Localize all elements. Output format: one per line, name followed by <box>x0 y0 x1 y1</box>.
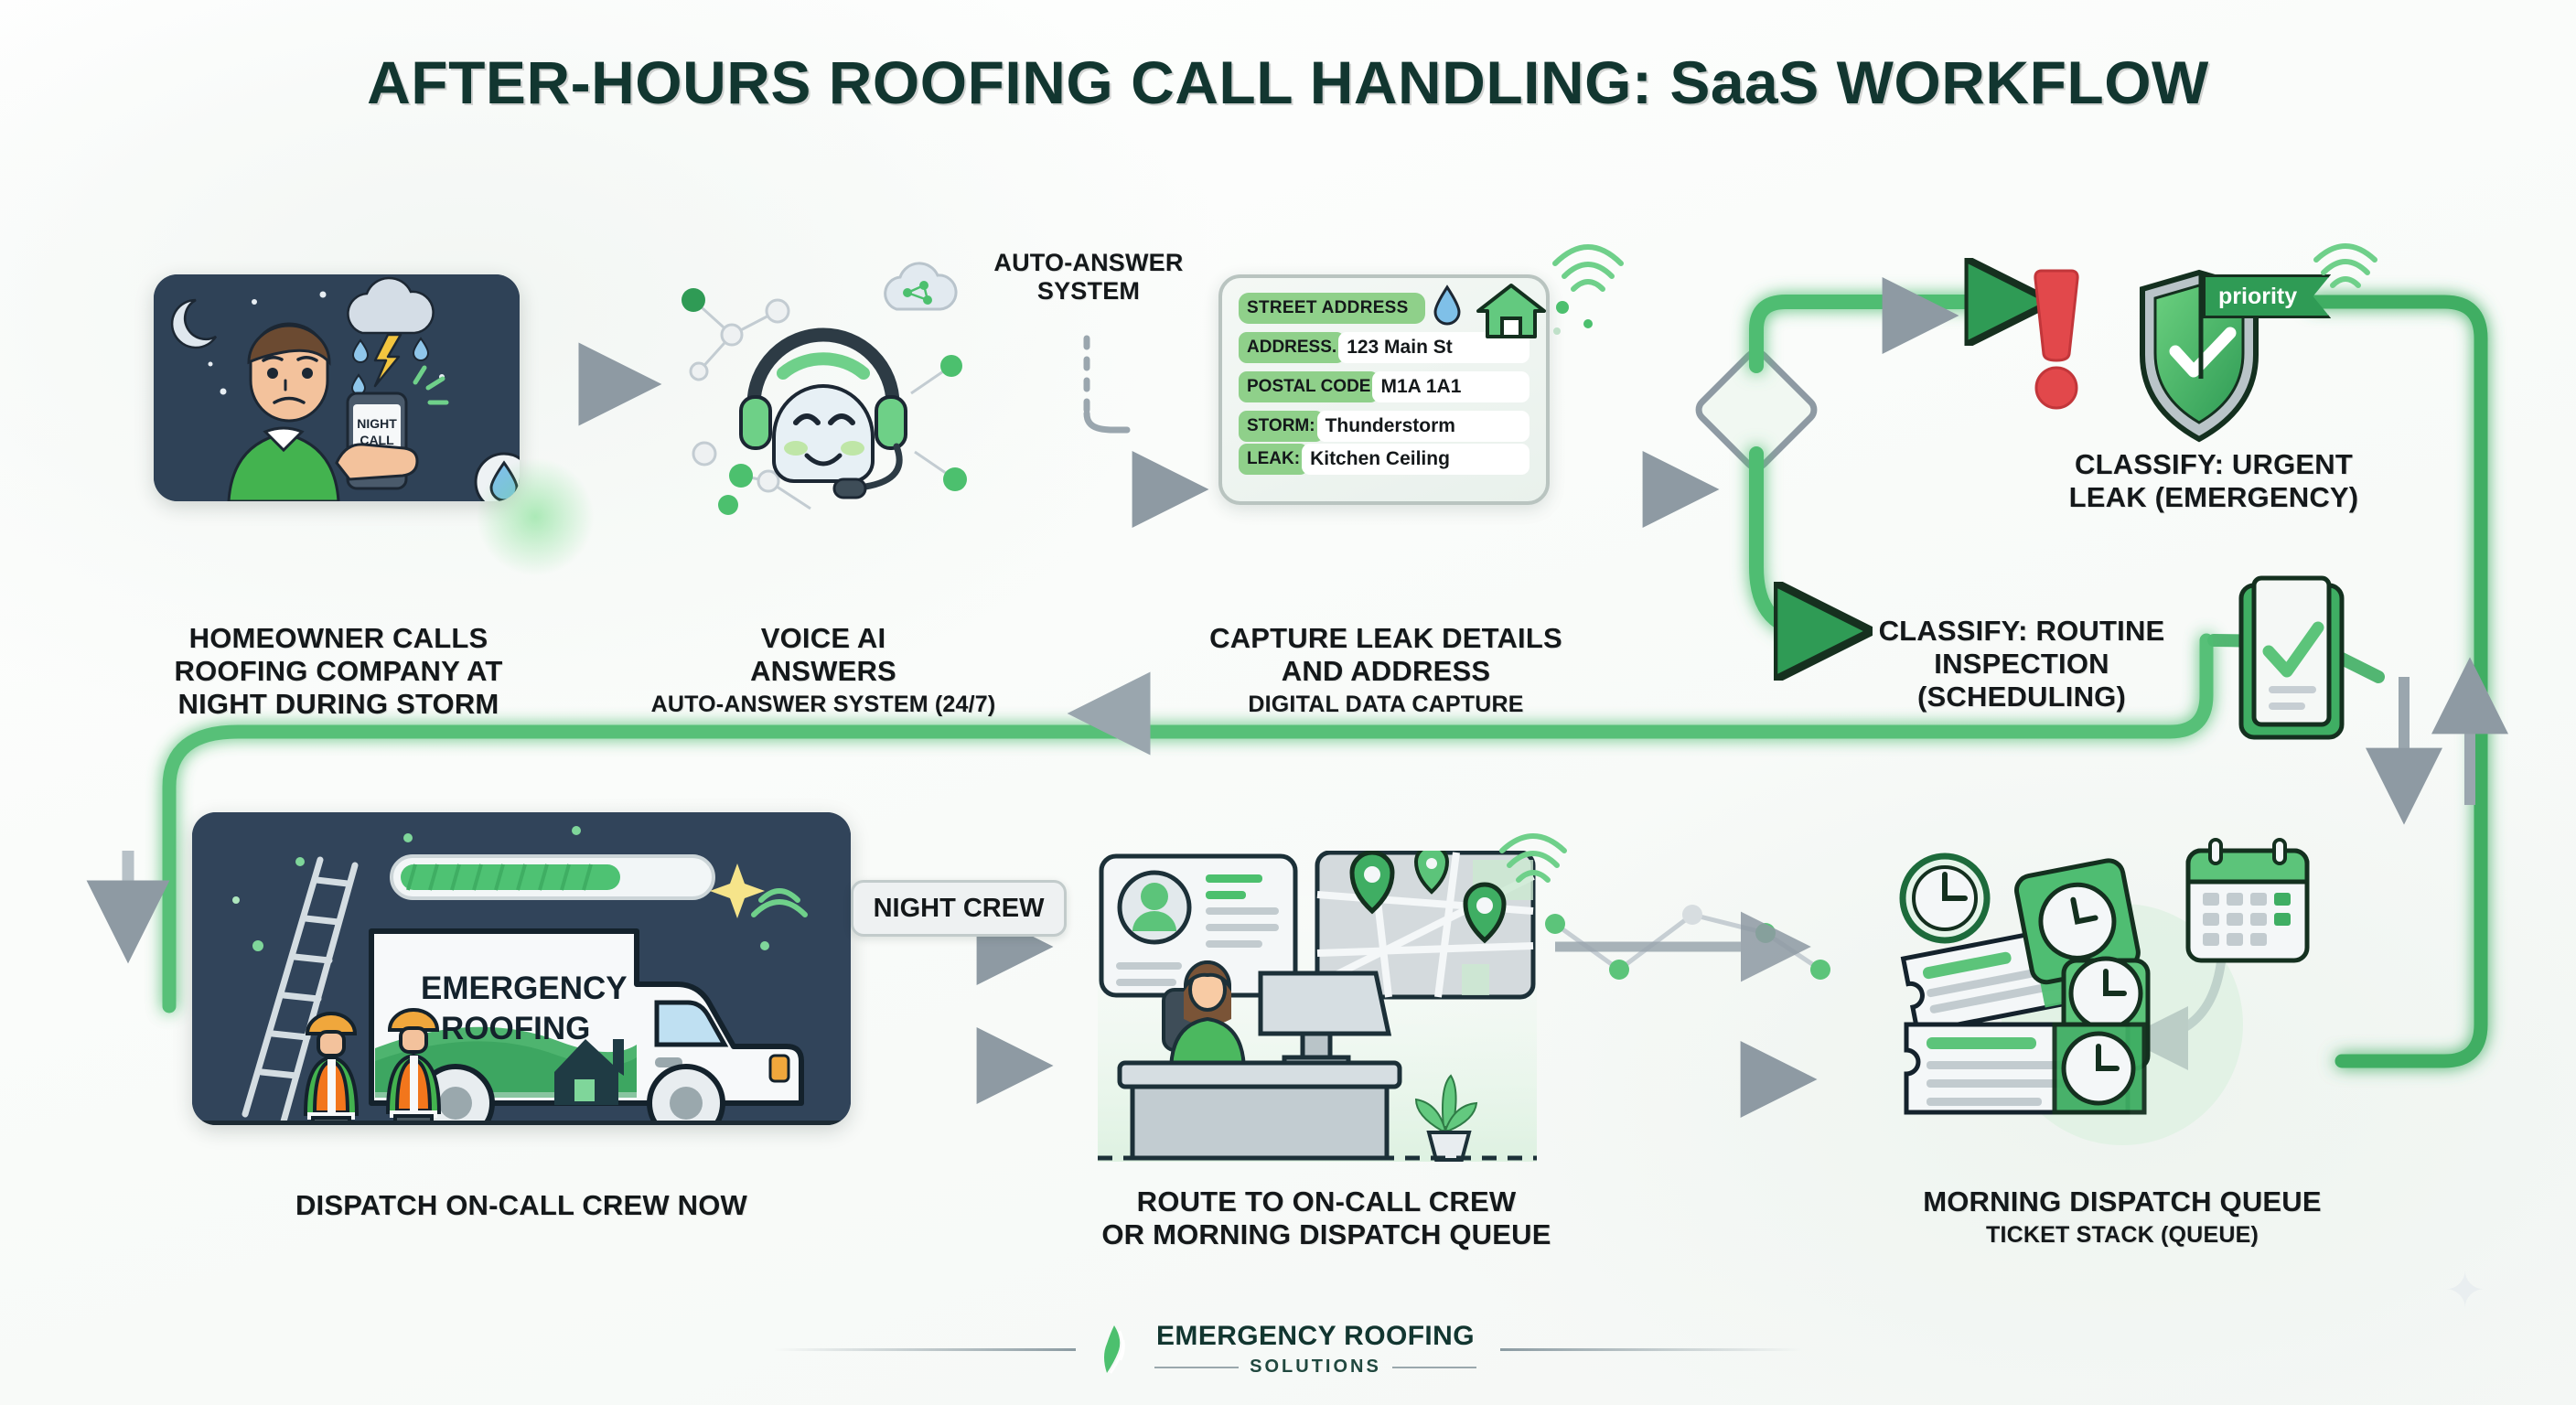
footer-tagline-row: SOLUTIONS <box>1154 1357 1476 1378</box>
caption-line: DISPATCH ON-CALL CREW NOW <box>183 1189 860 1222</box>
caption-line: MORNING DISPATCH QUEUE <box>1820 1185 2424 1218</box>
caption-line: HOMEOWNER CALLS <box>91 622 585 655</box>
caption-line: INSPECTION <box>1820 648 2223 681</box>
title-part2: WORKFLOW <box>1819 48 2209 116</box>
footer-brand-block: EMERGENCY ROOFING SOLUTIONS <box>1154 1321 1476 1378</box>
water-drop-icon <box>1435 287 1459 324</box>
signal-icon <box>1497 829 1579 902</box>
clipboard-check-icon <box>2232 573 2351 746</box>
exclamation-mark-icon <box>2020 263 2093 419</box>
priority-shield-badge: priority <box>2124 267 2334 450</box>
caption-line: NIGHT DURING STORM <box>91 688 585 721</box>
footer: EMERGENCY ROOFING SOLUTIONS <box>0 1321 2576 1378</box>
field-label: ADDRESS. <box>1239 332 1345 363</box>
annotation-auto-answer-system: AUTO-ANSWER SYSTEM <box>970 249 1207 306</box>
phone-label-line1: NIGHT <box>357 416 397 431</box>
caption-capture-details: CAPTURE LEAK DETAILS AND ADDRESS DIGITAL… <box>1162 622 1610 718</box>
caption-classify-routine: CLASSIFY: ROUTINE INSPECTION (SCHEDULING… <box>1820 615 2223 713</box>
caption-line: ANSWERS <box>640 655 1006 688</box>
night-crew-tag: NIGHT CREW <box>851 880 1067 937</box>
field-row-leak[interactable]: LEAK: Kitchen Ceiling <box>1239 444 1529 475</box>
footer-divider-right <box>1500 1348 1802 1351</box>
caption-line: CAPTURE LEAK DETAILS <box>1162 622 1610 655</box>
footer-brand-name: EMERGENCY ROOFING <box>1154 1321 1476 1352</box>
caption-dispatch-now: DISPATCH ON-CALL CREW NOW <box>183 1189 860 1222</box>
night-crew-label: NIGHT CREW <box>874 894 1045 924</box>
caption-homeowner-call: HOMEOWNER CALLS ROOFING COMPANY AT NIGHT… <box>91 622 585 721</box>
caption-line: ROOFING COMPANY AT <box>91 655 585 688</box>
caption-subtitle: AUTO-ANSWER SYSTEM (24/7) <box>640 692 1006 718</box>
caption-voice-ai: VOICE AI ANSWERS AUTO-ANSWER SYSTEM (24/… <box>640 622 1006 718</box>
field-row-postal-code[interactable]: POSTAL CODE M1A 1A1 <box>1239 371 1529 402</box>
sparkle-decoration-icon: ✦ <box>2444 1266 2485 1315</box>
caption-line: OR MORNING DISPATCH QUEUE <box>970 1218 1683 1251</box>
annotation-line: AUTO-ANSWER <box>970 249 1207 277</box>
caption-line: ROUTE TO ON-CALL CREW <box>970 1185 1683 1218</box>
field-value: M1A 1A1 <box>1372 371 1529 402</box>
scene-homeowner-night-call: NIGHT CALL <box>154 274 520 501</box>
van-label-line1: EMERGENCY <box>421 971 628 1006</box>
field-label-street-address: STREET ADDRESS <box>1239 293 1425 324</box>
field-label: LEAK: <box>1239 444 1308 475</box>
title-part1: AFTER-HOURS ROOFING CALL HANDLING: <box>367 48 1669 116</box>
caption-route-crew: ROUTE TO ON-CALL CREW OR MORNING DISPATC… <box>970 1185 1683 1251</box>
field-value: Kitchen Ceiling <box>1302 444 1529 475</box>
footer-divider-left <box>774 1348 1076 1351</box>
caption-classify-urgent: CLASSIFY: URGENT LEAK (EMERGENCY) <box>1976 448 2452 514</box>
infographic-canvas: AFTER-HOURS ROOFING CALL HANDLING: SaaS … <box>0 0 2576 1405</box>
caption-line: CLASSIFY: ROUTINE <box>1820 615 2223 648</box>
scene-ticket-stack <box>1894 832 2369 1153</box>
field-label: POSTAL CODE <box>1239 371 1379 402</box>
scene-dispatch-crew: EMERGENCY ROOFING <box>192 812 851 1125</box>
signal-icon <box>2313 240 2386 304</box>
drop-and-house-icons <box>1427 280 1546 342</box>
title-saas: SaaS <box>1669 48 1819 116</box>
tagline-rule-left <box>1154 1367 1239 1368</box>
caption-subtitle: TICKET STACK (QUEUE) <box>1820 1222 2424 1249</box>
dispatch-crew-illustration: EMERGENCY ROOFING <box>192 812 851 1125</box>
caption-line: LEAK (EMERGENCY) <box>1976 481 2452 514</box>
house-icon <box>1478 285 1544 337</box>
caption-line: (SCHEDULING) <box>1820 681 2223 713</box>
scene-voice-ai <box>640 256 1006 521</box>
field-row-storm[interactable]: STORM: Thunderstorm <box>1239 411 1529 442</box>
dispatch-desk-illustration <box>1098 851 1537 1162</box>
brand-leaf-logo-icon <box>1100 1324 1131 1375</box>
caption-line: VOICE AI <box>640 622 1006 655</box>
annotation-line: SYSTEM <box>970 277 1207 306</box>
caption-line: CLASSIFY: URGENT <box>1976 448 2452 481</box>
homeowner-illustration: NIGHT CALL <box>154 274 520 501</box>
field-label: STORM: <box>1239 411 1324 442</box>
tagline-rule-right <box>1392 1367 1476 1368</box>
scene-dispatch-desk <box>1098 851 1537 1162</box>
caption-line: AND ADDRESS <box>1162 655 1610 688</box>
voice-ai-illustration <box>640 256 1006 521</box>
water-drop-badge-icon <box>472 450 520 501</box>
caption-morning-queue: MORNING DISPATCH QUEUE TICKET STACK (QUE… <box>1820 1185 2424 1249</box>
van-label-line2: ROOFING <box>441 1011 590 1046</box>
field-value: Thunderstorm <box>1317 411 1529 442</box>
caption-subtitle: DIGITAL DATA CAPTURE <box>1162 692 1610 718</box>
page-title: AFTER-HOURS ROOFING CALL HANDLING: SaaS … <box>0 48 2576 117</box>
signal-decoration-icon <box>1546 236 1647 346</box>
ticket-stack-illustration <box>1894 832 2369 1153</box>
footer-tagline: SOLUTIONS <box>1250 1357 1381 1378</box>
